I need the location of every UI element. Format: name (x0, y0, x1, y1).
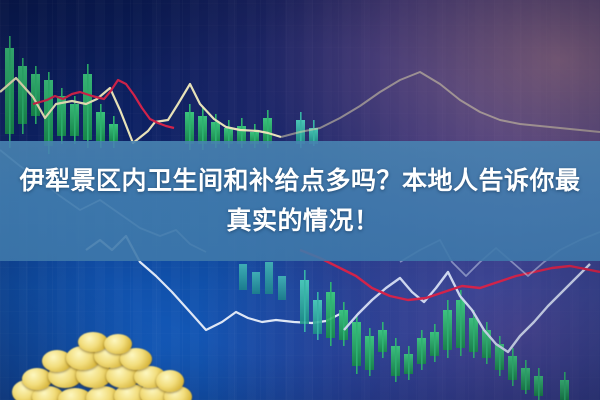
article-banner: 伊犁景区内卫生间和补给点多吗？本地人告诉你最 真实的情况！ (0, 0, 600, 400)
title-overlay-band: 伊犁景区内卫生间和补给点多吗？本地人告诉你最 真实的情况！ (0, 141, 600, 261)
gold-coins-pile (8, 340, 198, 400)
title-line-2: 真实的情况！ (220, 201, 379, 241)
title-line-1: 伊犁景区内卫生间和补给点多吗？本地人告诉你最 (19, 161, 580, 201)
